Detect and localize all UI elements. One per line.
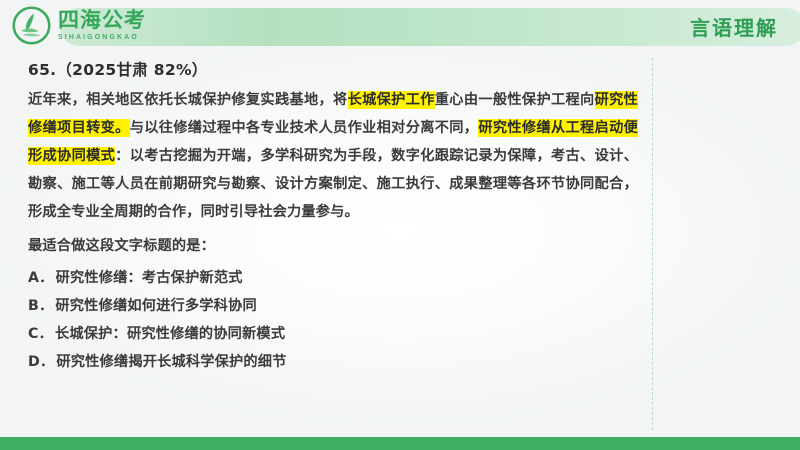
question-passage: 近年来，相关地区依托长城保护修复实践基地，将长城保护工作重心由一般性保护工程向研… [28,86,638,226]
answer-option[interactable]: B．研究性修缮如何进行多学科协同 [28,292,638,320]
brand-logo-text: 四海公考 SIHAIGONGKAO [58,10,146,41]
answer-option[interactable]: A．研究性修缮：考古保护新范式 [28,264,638,292]
question-prompt: 最适合做这段文字标题的是： [28,232,638,260]
passage-text: ：以考古挖掘为开端，多学科研究为手段，数字化跟踪记录为保障，考古、设计、勘察、施… [28,148,638,220]
header-bar: 四海公考 SIHAIGONGKAO 言语理解 [0,0,800,52]
answer-option-letter: A． [28,264,54,292]
answer-options: A．研究性修缮：考古保护新范式B．研究性修缮如何进行多学科协同C．长城保护：研究… [28,264,638,376]
question-number: 65.（2025甘肃 82%） [28,56,638,84]
answer-option-letter: D． [28,348,54,376]
answer-option-text: 研究性修缮如何进行多学科协同 [55,292,256,320]
brand-name-cn: 四海公考 [58,10,146,31]
answer-option-text: 研究性修缮揭开长城科学保护的细节 [56,348,286,376]
passage-text: 与以往修缮过程中各专业技术人员作业相对分离不同， [130,120,479,136]
answer-option[interactable]: C．长城保护：研究性修缮的协同新模式 [28,320,638,348]
brand-name-en: SIHAIGONGKAO [58,34,146,41]
question-content: 65.（2025甘肃 82%） 近年来，相关地区依托长城保护修复实践基地，将长城… [28,56,638,376]
passage-text: 重心由一般性保护工程向 [435,92,595,108]
passage-highlight: 长城保护工作 [348,91,435,109]
section-title: 言语理解 [690,12,778,41]
vertical-dashed-divider [652,58,653,430]
answer-option-text: 研究性修缮：考古保护新范式 [56,264,243,292]
answer-option[interactable]: D．研究性修缮揭开长城科学保护的细节 [28,348,638,376]
header-green-band [60,8,800,46]
answer-option-letter: C． [28,320,53,348]
slide-canvas: 四海公考 SIHAIGONGKAO 言语理解 65.（2025甘肃 82%） 近… [0,0,800,450]
brand-logo: 四海公考 SIHAIGONGKAO [12,6,146,45]
answer-option-text: 长城保护：研究性修缮的协同新模式 [55,320,285,348]
leaf-circle-logo-icon [12,6,51,45]
passage-text: 近年来，相关地区依托长城保护修复实践基地，将 [28,92,348,108]
answer-option-letter: B． [28,292,53,320]
footer-green-bar [0,437,800,450]
